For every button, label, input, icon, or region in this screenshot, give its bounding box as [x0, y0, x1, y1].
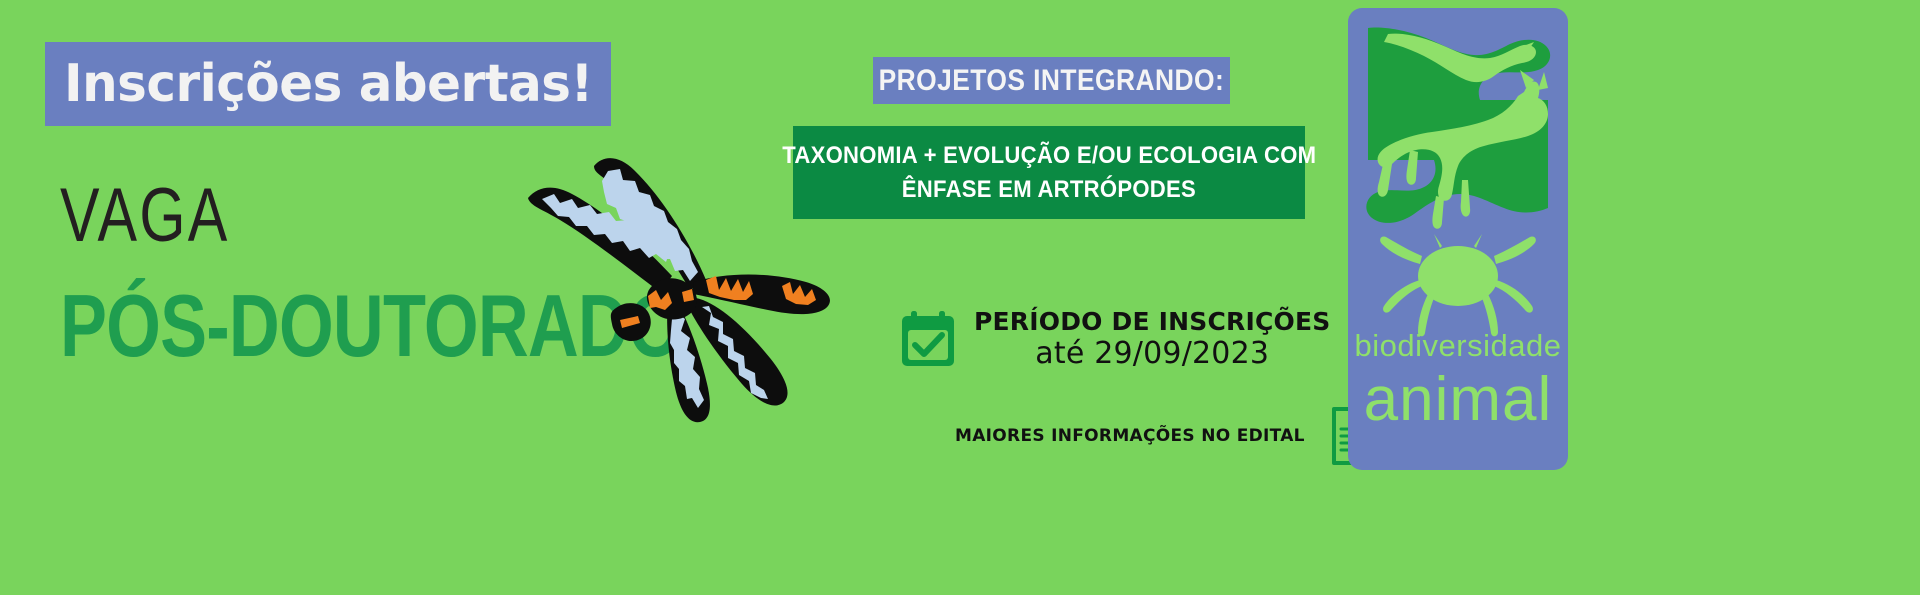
logo-wordmark: biodiversidade animal [1348, 330, 1568, 432]
registration-period-title: PERÍODO DE INSCRIÇÕES [974, 308, 1330, 335]
registration-open-chip: Inscrições abertas! [45, 42, 611, 126]
registration-period-block: PERÍODO DE INSCRIÇÕES até 29/09/2023 [900, 308, 1330, 370]
logo-animal-silhouettes [1348, 8, 1568, 338]
promotional-banner: Inscrições abertas! VAGA PÓS-DOUTORADO [0, 0, 1920, 595]
research-areas-box: TAXONOMIA + EVOLUÇÃO E/OU ECOLOGIA COM Ê… [793, 126, 1305, 219]
research-areas-line-2: ÊNFASE EM ARTRÓPODES [902, 178, 1196, 202]
position-label: VAGA [60, 178, 230, 254]
notice-info-label: MAIORES INFORMAÇÕES NO EDITAL [955, 428, 1305, 445]
registration-open-label: Inscrições abertas! [64, 58, 593, 110]
logo-wordmark-line-1: biodiversidade [1355, 330, 1562, 361]
biodiversidade-animal-logo: biodiversidade animal [1348, 8, 1568, 470]
research-areas-line-1: TAXONOMIA + EVOLUÇÃO E/OU ECOLOGIA COM [782, 144, 1316, 168]
registration-deadline-date: até 29/09/2023 [1035, 337, 1269, 370]
notice-info-block: MAIORES INFORMAÇÕES NO EDITAL [955, 405, 1389, 467]
registration-period-text: PERÍODO DE INSCRIÇÕES até 29/09/2023 [974, 308, 1330, 370]
calendar-check-icon [900, 310, 956, 368]
projects-heading-chip: PROJETOS INTEGRANDO: [873, 57, 1230, 104]
logo-wordmark-line-2: animal [1364, 367, 1553, 432]
projects-heading-label: PROJETOS INTEGRANDO: [879, 66, 1225, 96]
